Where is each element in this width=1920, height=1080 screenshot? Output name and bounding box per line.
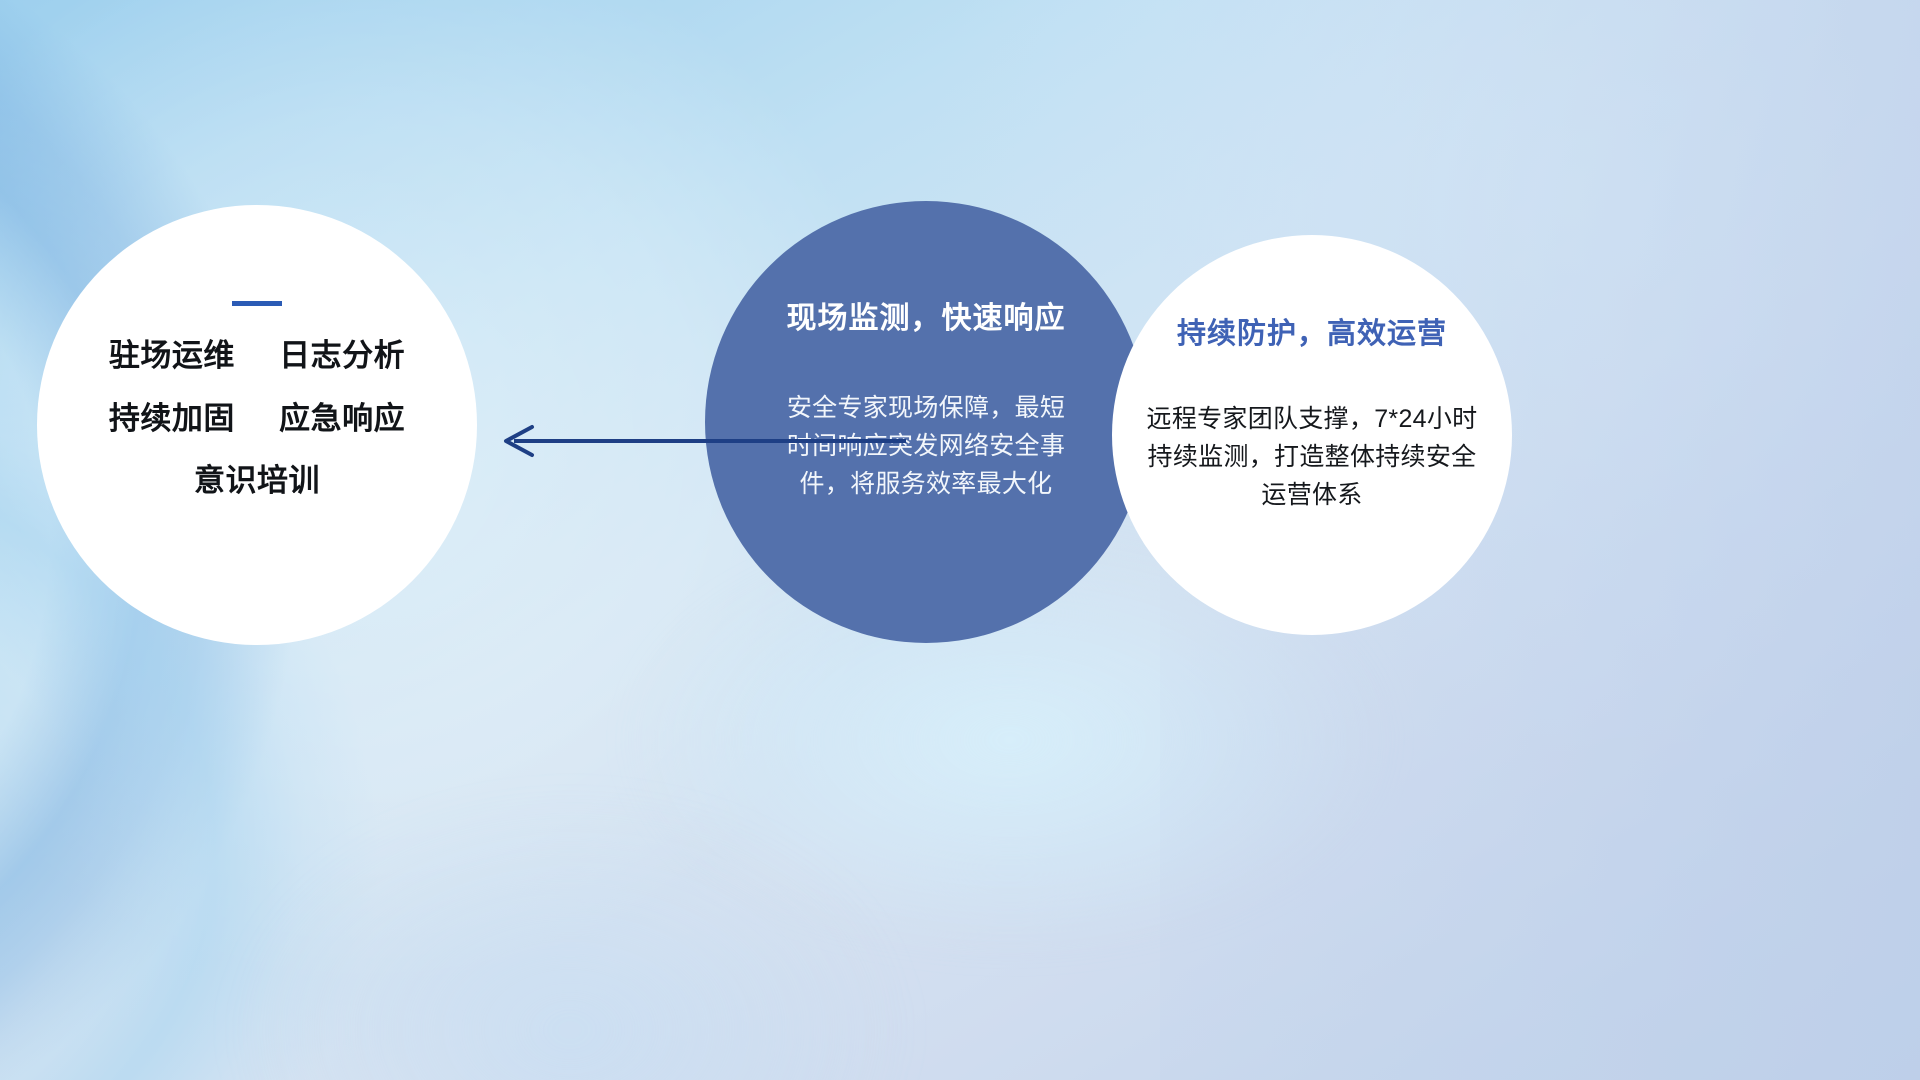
center-circle-title: 现场监测，快速响应: [787, 293, 1066, 337]
keyword-row-2: 持续加固 应急响应: [109, 401, 405, 437]
keyword-yingji-xiangying: 应急响应: [279, 401, 405, 436]
keyword-row-1: 驻场运维 日志分析: [109, 338, 405, 374]
right-circle-body: 远程专家团队支撑，7*24小时持续监测，打造整体持续安全运营体系: [1142, 400, 1482, 514]
slide-canvas: 驻场运维 日志分析 持续加固 应急响应 意识培训 现场监测，快速响应 安全专家现…: [0, 0, 1920, 1080]
capability-circle-left: 驻场运维 日志分析 持续加固 应急响应 意识培训: [37, 205, 477, 645]
keyword-yishi-peixun: 意识培训: [194, 463, 320, 498]
keyword-zhuchang-yunwei: 驻场运维: [109, 338, 235, 373]
keyword-chixu-jiagu: 持续加固: [109, 401, 235, 436]
capability-circle-right: 持续防护，高效运营 远程专家团队支撑，7*24小时持续监测，打造整体持续安全运营…: [1112, 235, 1512, 635]
keyword-row-3: 意识培训: [194, 463, 320, 499]
dash-divider-icon: [232, 301, 282, 306]
right-circle-title: 持续防护，高效运营: [1177, 310, 1447, 352]
arrow-left-icon: [490, 406, 910, 476]
keyword-rizhi-fenxi: 日志分析: [279, 338, 405, 373]
